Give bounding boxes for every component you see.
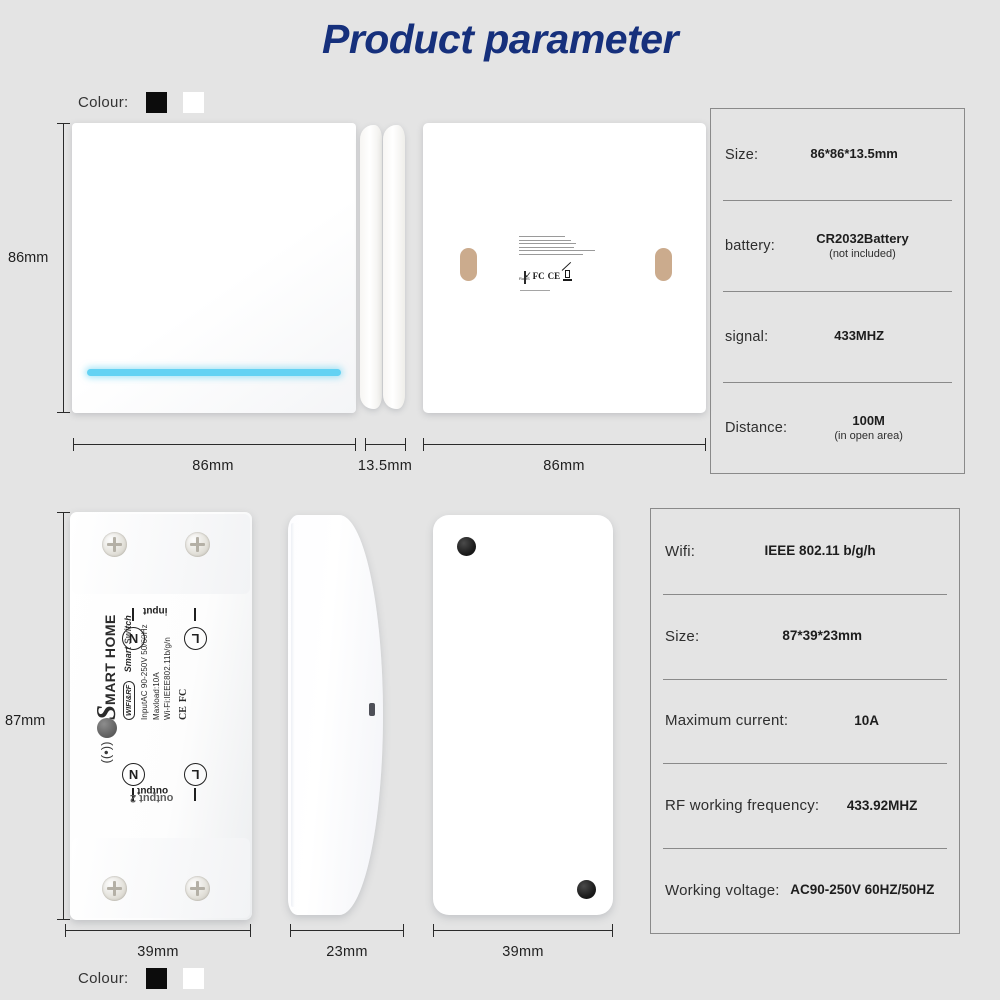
dim-line-w1 [73,444,356,445]
dim-tick [365,438,366,451]
top-view-screw-2-icon [577,880,596,899]
dim-tick [57,512,70,513]
wifi-signal-icon: ((•)) [98,742,113,764]
colour-row-bottom: Colour: [78,968,204,989]
spec-value: 10A [854,713,879,728]
smart-switch-body [70,512,252,920]
switch-cap-bottom [72,838,250,918]
spec-table-smart-switch: Wifi: IEEE 802.11 b/g/h Size: 87*39*23mm… [650,508,960,934]
spec-row: Working voltage: AC90-250V 60HZ/50HZ [651,848,959,933]
fcc-icon: FC [533,272,545,281]
dim-line-b2 [290,930,404,931]
wall-switch-side-plate-a [360,125,382,409]
dim-label-height-bottom: 87mm [5,713,45,729]
dim-tick [423,438,424,451]
dim-label-b1: 39mm [118,944,198,960]
screw-top-right-icon [185,532,210,557]
spec-key: RF working frequency: [665,797,819,814]
rohs-icon: ✓RoHS [519,271,530,281]
label-footer-line [520,290,550,291]
terminal-stem [132,608,134,621]
wall-switch-front-panel [72,123,356,413]
certification-marks: ✓RoHS FC CE [519,270,572,281]
terminal-l-output: L [184,763,207,786]
spec-row: RF working frequency: 433.92MHZ [651,763,959,848]
smart-switch-top-view [433,515,613,915]
dim-vline-height-top [63,123,64,413]
dim-tick [290,924,291,937]
spec-row: Distance: 100M (in open area) [711,382,964,473]
smart-switch-side-view [288,515,383,915]
dim-line-w2 [365,444,406,445]
spec-value: AC90-250V 60HZ/50HZ [790,882,934,897]
terminal-stem [194,608,196,621]
colour-label: Colour: [78,970,128,987]
terminal-l-input: L [184,627,207,650]
colour-swatch-black[interactable] [146,968,167,989]
dim-tick [57,412,70,413]
dim-tick [355,438,356,451]
screw-bottom-right-icon [185,876,210,901]
spec-key: battery: [725,238,775,254]
spec-value: 433.92MHZ [847,798,918,813]
colour-swatch-black[interactable] [146,92,167,113]
dim-vline-height-bottom [63,512,64,920]
colour-swatch-white[interactable] [183,968,204,989]
spec-row: Wifi: IEEE 802.11 b/g/h [651,509,959,594]
spec-row: signal: 433MHZ [711,291,964,382]
colour-label: Colour: [78,94,128,111]
screw-bottom-left-icon [102,876,127,901]
dim-tick [433,924,434,937]
terminal-label-input: input [143,605,167,616]
spec-value: 87*39*23mm [782,628,862,643]
spec-key: Wifi: [665,543,695,560]
spec-value: CR2032Battery [816,231,909,246]
ce-icon: CE [548,272,561,281]
dim-label-w2: 13.5mm [345,458,425,474]
dim-tick [57,919,70,920]
spec-row: Size: 86*86*13.5mm [711,109,964,200]
spec-value-note: (in open area) [787,430,950,443]
switch-side-button[interactable] [369,703,375,716]
colour-swatch-white[interactable] [183,92,204,113]
dim-tick [403,924,404,937]
spec-table-remote: Size: 86*86*13.5mm battery: CR2032Batter… [710,108,965,474]
dim-label-w1: 86mm [133,458,293,474]
dim-tick [73,438,74,451]
spec-key: Distance: [725,420,787,436]
weee-icon [563,270,572,281]
spec-value: 100M [852,413,885,428]
spec-row: Size: 87*39*23mm [651,594,959,679]
spec-key: Maximum current: [665,712,788,729]
dim-label-height-top: 86mm [8,250,48,266]
dim-tick [57,123,70,124]
pairing-button[interactable] [97,718,117,738]
page-title: Product parameter [0,16,1000,63]
spec-row: Maximum current: 10A [651,679,959,764]
top-view-screw-1-icon [457,537,476,556]
mounting-pad-left [460,248,477,281]
dim-tick [250,924,251,937]
dim-tick [65,924,66,937]
terminal-stem [194,788,196,801]
screw-top-left-icon [102,532,127,557]
terminal-n-output: N [122,763,145,786]
spec-key: signal: [725,329,768,345]
switch-cap-top [72,514,250,594]
dim-tick [705,438,706,451]
colour-row-top: Colour: [78,92,204,113]
spec-value: 86*86*13.5mm [810,146,897,161]
dim-line-w3 [423,444,706,445]
spec-value: IEEE 802.11 b/g/h [765,543,876,558]
spec-key: Size: [665,628,699,645]
dim-label-b2: 23mm [307,944,387,960]
switch-side-spine [291,523,295,907]
spec-key: Size: [725,147,758,163]
spec-value-note: (not included) [775,248,950,261]
led-indicator-bar [87,369,341,376]
wall-switch-side-plate-b [383,125,405,409]
spec-row: battery: CR2032Battery (not included) [711,200,964,291]
dim-tick [405,438,406,451]
spec-value: 433MHZ [834,328,884,343]
mounting-pad-right [655,248,672,281]
dim-label-b3: 39mm [483,944,563,960]
product-back-label: ✓RoHS FC CE [514,232,608,294]
dim-line-b3 [433,930,613,931]
dim-line-b1 [65,930,251,931]
terminal-label-output-2: output 2 [130,792,173,804]
dim-label-w3: 86mm [484,458,644,474]
dim-tick [612,924,613,937]
spec-key: Working voltage: [665,882,780,899]
terminal-n-input: N [122,627,145,650]
